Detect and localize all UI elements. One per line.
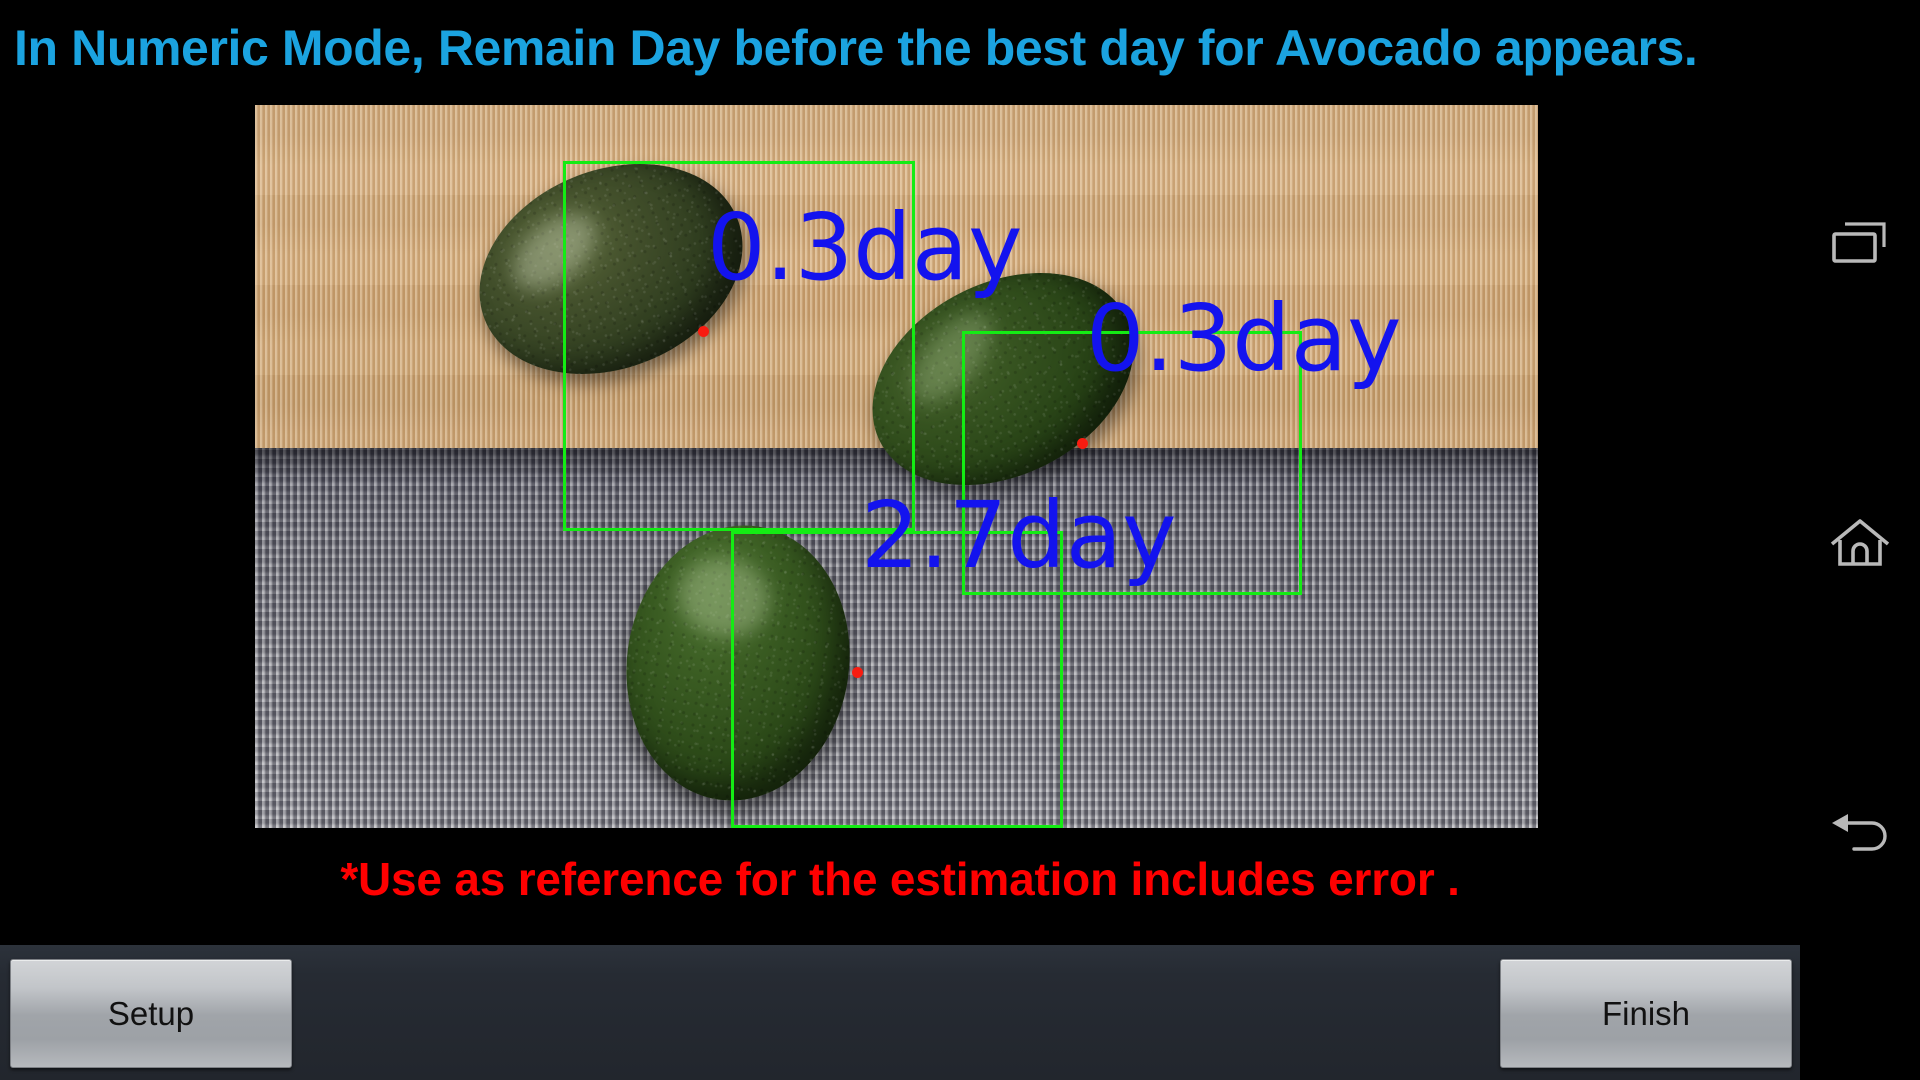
back-button[interactable] bbox=[1800, 790, 1920, 880]
detection-label-1: 0.3day bbox=[707, 202, 1023, 294]
finish-button[interactable]: Finish bbox=[1500, 959, 1792, 1068]
instruction-header: In Numeric Mode, Remain Day before the b… bbox=[14, 10, 1844, 86]
setup-button[interactable]: Setup bbox=[10, 959, 292, 1068]
navigation-rail bbox=[1800, 0, 1920, 1080]
detection-center-dot-2 bbox=[1077, 438, 1088, 449]
estimation-error-warning: *Use as reference for the estimation inc… bbox=[0, 852, 1800, 906]
home-icon bbox=[1829, 517, 1891, 574]
recent-apps-button[interactable] bbox=[1800, 200, 1920, 290]
camera-preview[interactable]: 0.3day0.3day2.7day bbox=[255, 105, 1538, 828]
home-button[interactable] bbox=[1800, 500, 1920, 590]
detection-center-dot-1 bbox=[698, 326, 709, 337]
recent-apps-icon bbox=[1831, 221, 1889, 270]
detection-center-dot-3 bbox=[852, 667, 863, 678]
back-icon bbox=[1828, 809, 1892, 862]
detection-label-3: 2.7day bbox=[861, 490, 1177, 582]
detection-label-2: 0.3day bbox=[1086, 293, 1402, 385]
bottom-button-bar: Setup Finish bbox=[0, 945, 1800, 1080]
